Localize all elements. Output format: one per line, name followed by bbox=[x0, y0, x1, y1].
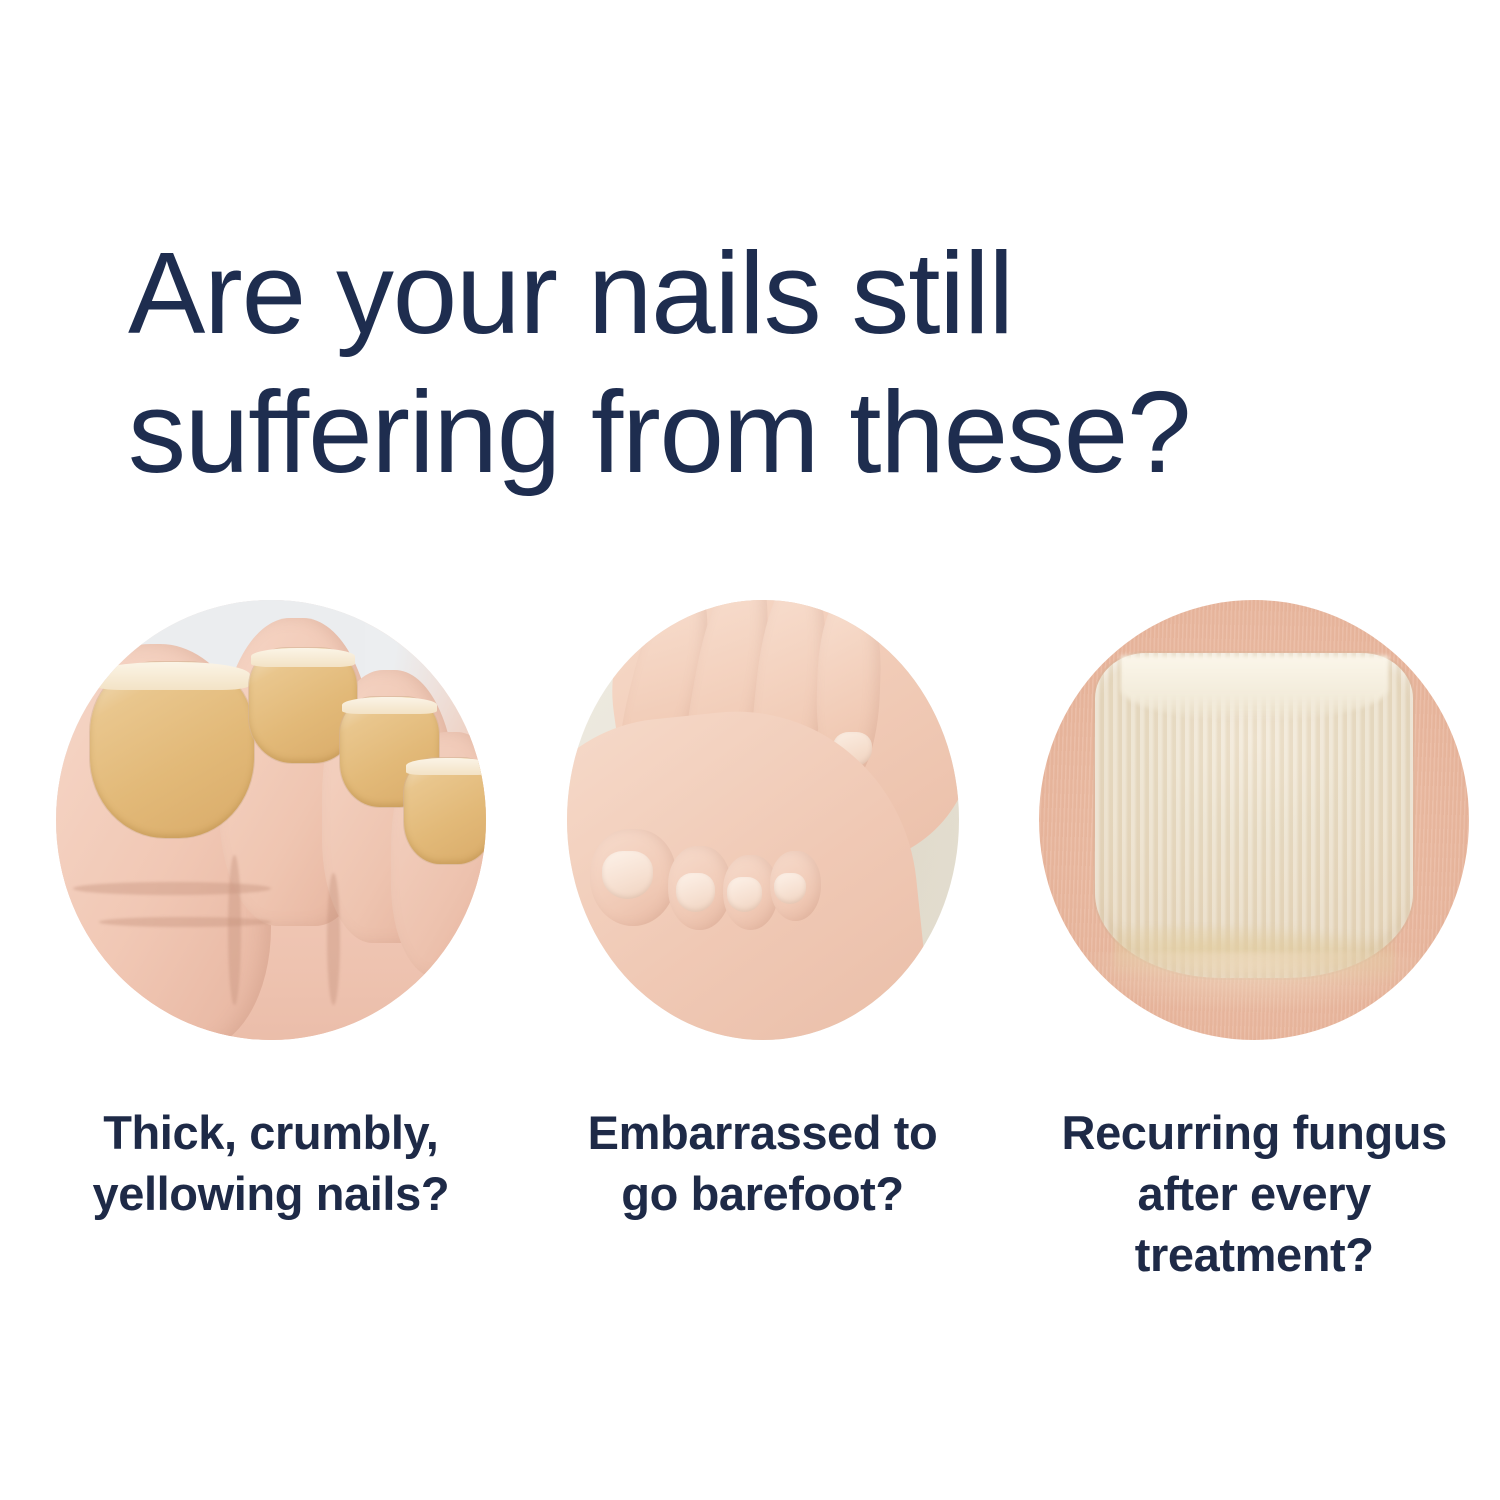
page-title: Are your nails still suffering from thes… bbox=[128, 224, 1378, 502]
symptom-card-row: Thick, crumbly, yellowing nails? bbox=[0, 600, 1500, 1285]
toes-yellow-nails-photo bbox=[56, 600, 486, 1040]
symptom-caption-embarrassed-barefoot: Embarrassed to go barefoot? bbox=[553, 1102, 973, 1224]
toenail bbox=[602, 851, 653, 899]
cuticle bbox=[1074, 952, 1435, 1014]
nail-tip bbox=[406, 758, 486, 775]
symptom-card-thick-crumbly-nails: Thick, crumbly, yellowing nails? bbox=[25, 600, 517, 1285]
symptom-card-recurring-fungus: Recurring fungus after every treatment? bbox=[1008, 600, 1500, 1285]
nail-tip bbox=[93, 662, 250, 690]
symptom-image-thick-crumbly-nails bbox=[56, 600, 486, 1040]
big-toenail bbox=[90, 662, 253, 838]
toe-gap bbox=[228, 855, 241, 1005]
symptom-image-recurring-fungus bbox=[1039, 600, 1469, 1040]
nail-plate bbox=[1095, 653, 1413, 979]
fourth-toenail bbox=[404, 758, 486, 864]
symptom-card-embarrassed-barefoot: Embarrassed to go barefoot? bbox=[517, 600, 1009, 1285]
macro-fungal-nail-photo bbox=[1039, 600, 1469, 1040]
toenail bbox=[774, 873, 805, 904]
hand-on-foot-photo bbox=[567, 600, 959, 1040]
nail-tip bbox=[342, 697, 437, 715]
symptom-caption-thick-crumbly-nails: Thick, crumbly, yellowing nails? bbox=[61, 1102, 481, 1224]
symptom-image-embarrassed-barefoot bbox=[567, 600, 959, 1040]
symptom-caption-recurring-fungus: Recurring fungus after every treatment? bbox=[1044, 1102, 1464, 1285]
toe-gap bbox=[327, 873, 340, 1005]
nail-tip bbox=[251, 648, 354, 666]
skin-crease bbox=[73, 882, 271, 895]
lunula bbox=[1121, 656, 1388, 721]
